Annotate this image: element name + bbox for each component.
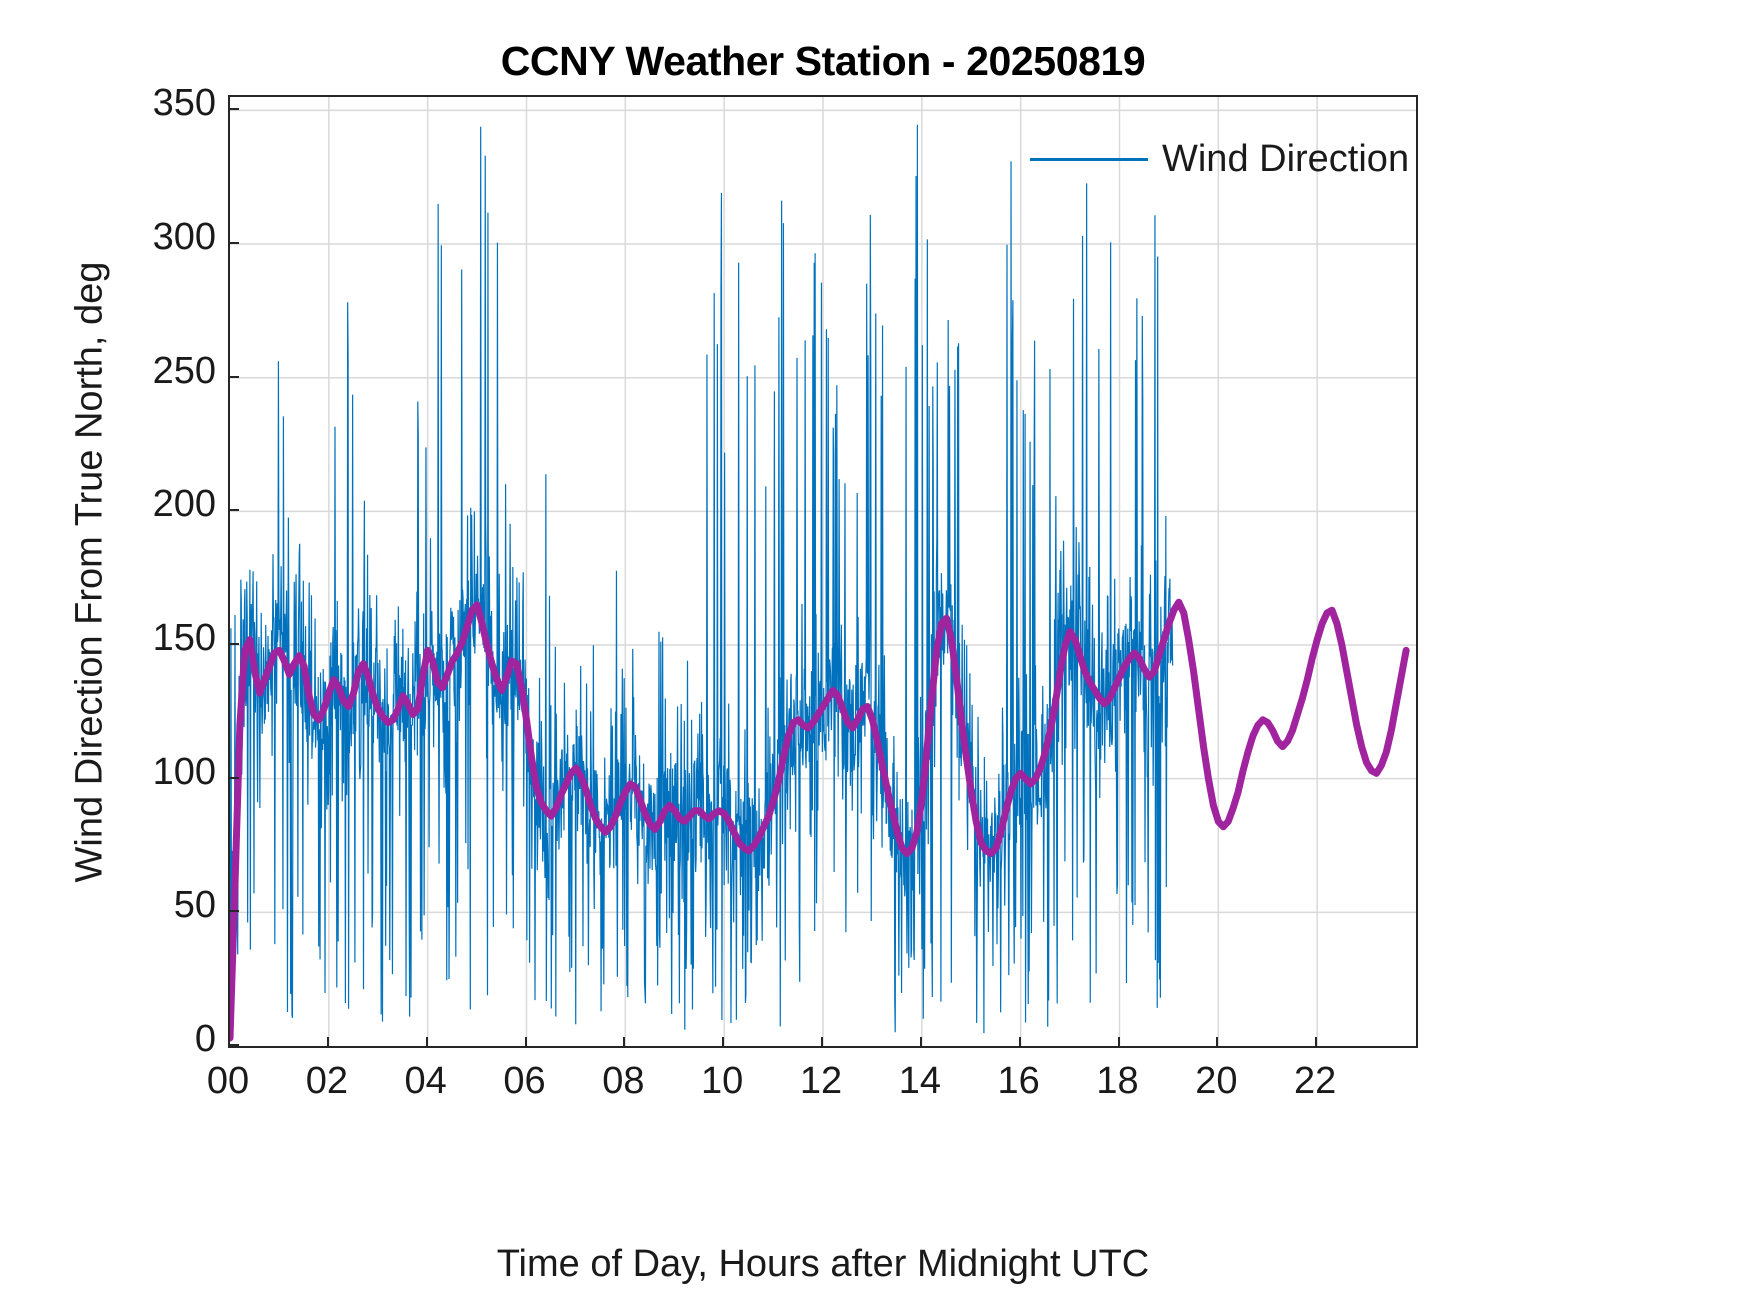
legend[interactable]: Wind Direction (1030, 128, 1400, 190)
x-tick-label: 22 (1270, 1060, 1360, 1103)
x-tick-label: 12 (776, 1060, 866, 1103)
page-title: CCNY Weather Station - 20250819 (228, 38, 1418, 85)
x-tick-mark (722, 1037, 724, 1048)
y-tick-mark (228, 376, 239, 378)
x-tick-label: 18 (1073, 1060, 1163, 1103)
y-tick-label: 300 (106, 216, 216, 259)
x-tick-label: 02 (282, 1060, 372, 1103)
series-wind-direction-raw (230, 125, 1173, 1033)
gridlines (230, 97, 1416, 1046)
y-tick-mark (228, 242, 239, 244)
x-tick-mark (1315, 1037, 1317, 1048)
x-tick-label: 16 (974, 1060, 1064, 1103)
x-tick-label: 04 (381, 1060, 471, 1103)
y-tick-label: 350 (106, 82, 216, 125)
x-tick-mark (920, 1037, 922, 1048)
x-tick-mark (1019, 1037, 1021, 1048)
plot-svg (230, 97, 1416, 1046)
y-tick-label: 250 (106, 350, 216, 393)
x-tick-label: 20 (1171, 1060, 1261, 1103)
y-tick-mark (228, 910, 239, 912)
legend-label-wind-direction: Wind Direction (1162, 138, 1409, 181)
x-tick-mark (1216, 1037, 1218, 1048)
y-tick-mark (228, 643, 239, 645)
y-tick-mark (228, 108, 239, 110)
y-tick-label: 50 (106, 884, 216, 927)
y-tick-label: 0 (106, 1018, 216, 1061)
x-tick-mark (1118, 1037, 1120, 1048)
x-tick-label: 10 (677, 1060, 767, 1103)
plot-area (228, 95, 1418, 1048)
x-tick-mark (821, 1037, 823, 1048)
y-tick-mark (228, 509, 239, 511)
y-tick-label: 100 (106, 751, 216, 794)
x-tick-mark (228, 1037, 230, 1048)
x-tick-label: 00 (183, 1060, 273, 1103)
x-tick-mark (327, 1037, 329, 1048)
y-tick-label: 200 (106, 483, 216, 526)
x-tick-label: 08 (578, 1060, 668, 1103)
x-tick-label: 06 (480, 1060, 570, 1103)
figure-canvas: CCNY Weather Station - 20250819 Wind Dir… (0, 0, 1750, 1313)
legend-line-swatch-wind-direction (1030, 158, 1148, 161)
y-tick-mark (228, 777, 239, 779)
x-tick-mark (623, 1037, 625, 1048)
y-tick-label: 150 (106, 617, 216, 660)
x-tick-mark (426, 1037, 428, 1048)
x-tick-mark (525, 1037, 527, 1048)
x-axis-label: Time of Day, Hours after Midnight UTC (228, 1243, 1418, 1286)
x-tick-label: 14 (875, 1060, 965, 1103)
